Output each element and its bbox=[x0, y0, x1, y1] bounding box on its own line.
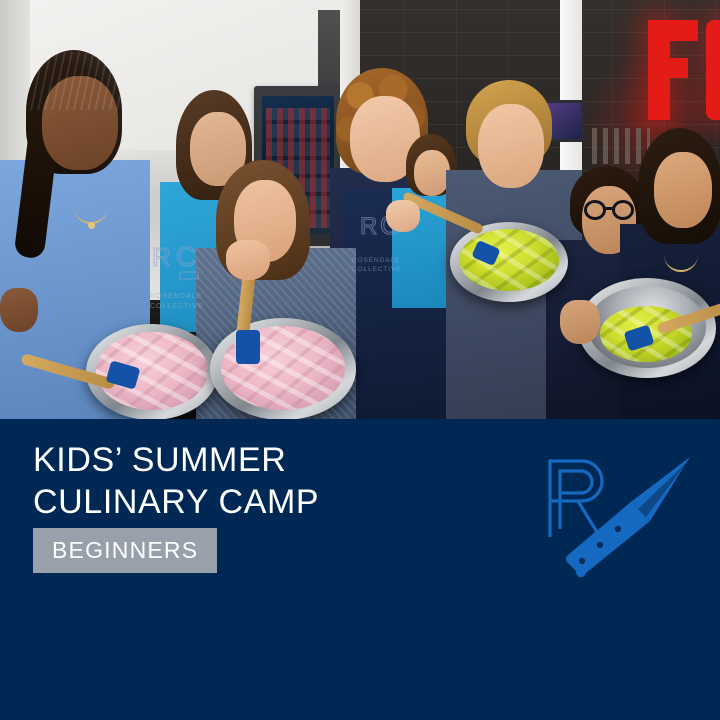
child-6-face bbox=[414, 150, 450, 196]
svg-text:R: R bbox=[360, 213, 377, 240]
title-line-1: KIDS’ SUMMER bbox=[33, 439, 513, 481]
wall-sign-letter-f-arm-mid bbox=[648, 58, 688, 78]
child-1-pendant bbox=[88, 222, 95, 229]
rosendale-collective-knife-logo bbox=[538, 439, 706, 579]
child-1-braid-texture bbox=[28, 52, 120, 110]
child-8-face bbox=[654, 152, 712, 228]
child-7-glasses-right bbox=[612, 200, 634, 220]
child-7-glasses-left bbox=[584, 200, 606, 220]
hero-photo: R C ROSENDALE COLLECTIVE R C ROSENDALE C… bbox=[0, 0, 720, 419]
page-title: KIDS’ SUMMER CULINARY CAMP bbox=[33, 439, 513, 523]
apron-brand-text: ROSENDALE COLLECTIVE bbox=[150, 292, 228, 316]
apron-monogram-rc: R C bbox=[150, 236, 214, 294]
lime-batter-swirl bbox=[459, 229, 559, 291]
child-1-hand bbox=[0, 288, 38, 332]
child-7-glasses-bridge bbox=[605, 207, 614, 210]
svg-text:C: C bbox=[176, 241, 196, 272]
title-line-2: CULINARY CAMP bbox=[33, 481, 513, 523]
chef-knife-icon bbox=[566, 457, 690, 577]
title-band: KIDS’ SUMMER CULINARY CAMP BEGINNERS bbox=[0, 419, 720, 720]
child-3-hand bbox=[226, 240, 270, 280]
blue-spatula-head bbox=[236, 330, 260, 364]
apron-brand-text: ROSENDALE COLLECTIVE bbox=[352, 256, 426, 280]
bottle-row bbox=[592, 128, 650, 164]
white-column bbox=[560, 0, 582, 170]
r-monogram-icon bbox=[550, 461, 602, 537]
child-7-hand bbox=[560, 300, 600, 344]
child-4-hand bbox=[386, 200, 420, 232]
poster-canvas: R C ROSENDALE COLLECTIVE R C ROSENDALE C… bbox=[0, 0, 720, 720]
wall-sign-letter-f-arm-top bbox=[648, 20, 698, 41]
child-5-face bbox=[478, 104, 544, 188]
svg-text:R: R bbox=[152, 242, 171, 272]
wall-sign-letter-o bbox=[706, 20, 720, 120]
level-badge: BEGINNERS bbox=[33, 528, 217, 573]
